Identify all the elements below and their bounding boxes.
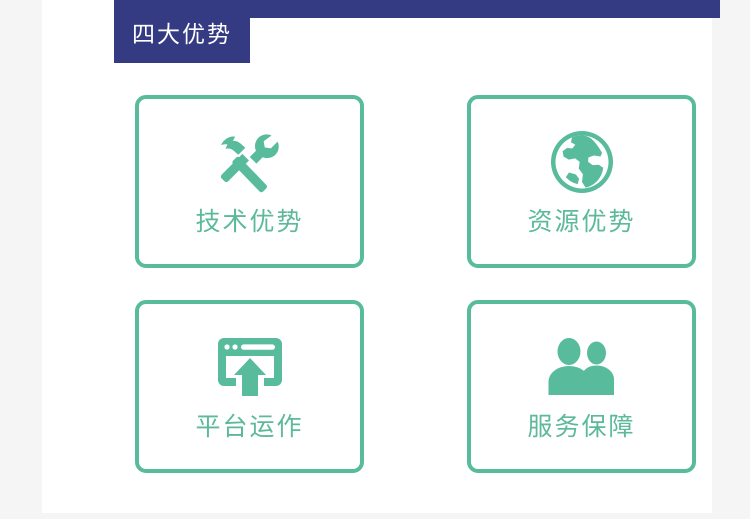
hammer-wrench-icon xyxy=(215,126,285,198)
page-root: 四大优势 xyxy=(0,0,750,519)
section-title: 四大优势 xyxy=(132,17,232,46)
advantage-card-label: 技术优势 xyxy=(195,210,303,235)
two-users-icon xyxy=(548,331,616,403)
browser-upload-icon xyxy=(218,331,282,403)
content-sheet: 四大优势 xyxy=(42,0,712,513)
advantage-card-technology[interactable]: 技术优势 xyxy=(135,95,364,268)
section-title-box: 四大优势 xyxy=(114,0,250,63)
advantage-card-label: 服务保障 xyxy=(527,415,635,440)
advantage-card-label: 平台运作 xyxy=(195,415,303,440)
advantage-card-service[interactable]: 服务保障 xyxy=(467,300,696,473)
advantage-card-resources[interactable]: 资源优势 xyxy=(467,95,696,268)
advantage-card-platform[interactable]: 平台运作 xyxy=(135,300,364,473)
advantage-card-grid: 技术优势 资源优势 xyxy=(135,95,697,473)
advantage-card-label: 资源优势 xyxy=(527,210,635,235)
globe-icon xyxy=(549,126,615,198)
